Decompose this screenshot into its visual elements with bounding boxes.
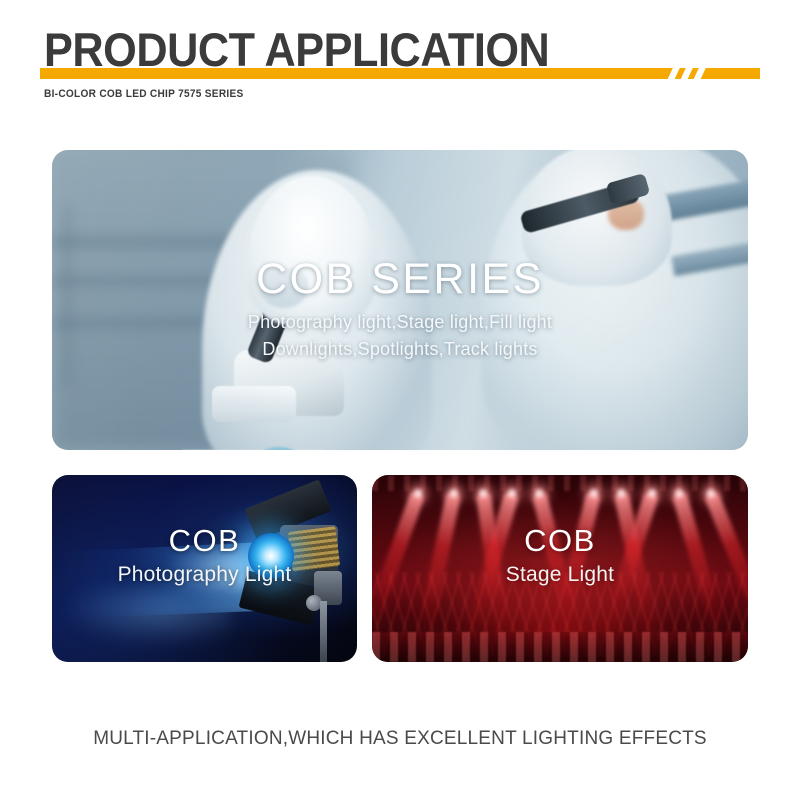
- stage-truss-top: [372, 475, 748, 491]
- cob-series-hero-card: COB SERIES Photography light,Stage light…: [52, 150, 748, 450]
- hero-vignette: [52, 150, 748, 450]
- product-application-page: PRODUCT APPLICATION BI-COLOR COB LED CHI…: [0, 0, 800, 800]
- hero-background-image: [52, 150, 748, 450]
- page-subtitle: BI-COLOR COB LED CHIP 7575 SERIES: [44, 88, 244, 100]
- lamp-stand: [320, 601, 327, 662]
- stage-card-background: [372, 475, 748, 662]
- slash-stripe: [679, 68, 694, 79]
- page-title: PRODUCT APPLICATION: [44, 24, 549, 76]
- footer-caption: MULTI-APPLICATION,WHICH HAS EXCELLENT LI…: [0, 728, 800, 750]
- fresnel-lens: [248, 533, 294, 579]
- stage-floor-truss: [372, 632, 748, 662]
- slash-stripe: [692, 68, 707, 79]
- stage-light-card: COB Stage Light: [372, 475, 748, 662]
- photography-light-card: COB Photography Light: [52, 475, 357, 662]
- photography-card-background: [52, 475, 357, 662]
- lamp-heat-fins: [288, 526, 341, 572]
- header-slash-decoration: [668, 68, 716, 79]
- slash-stripe: [668, 68, 681, 79]
- page-header: PRODUCT APPLICATION BI-COLOR COB LED CHI…: [0, 0, 800, 120]
